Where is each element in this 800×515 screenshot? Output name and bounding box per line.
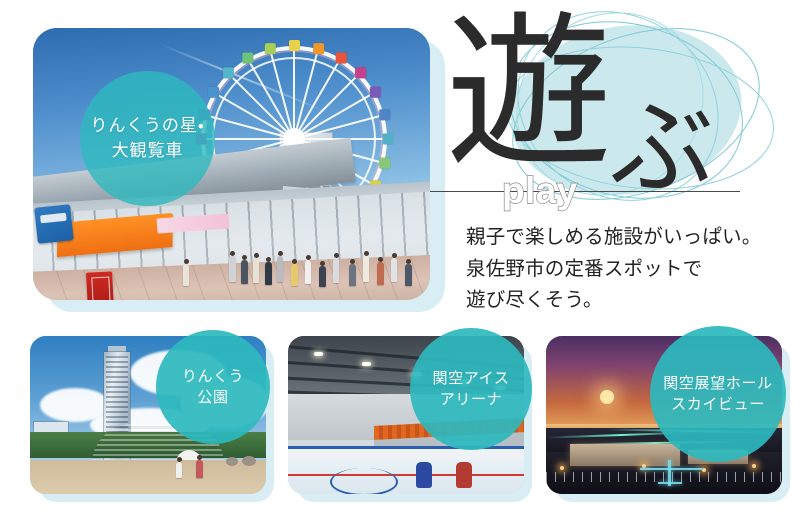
- hero-badge-line-2: 大観覧車: [112, 139, 184, 164]
- hero-a-board-sign: [86, 271, 114, 300]
- airport-lamp: [560, 466, 564, 470]
- hero-pedestrian: [363, 256, 369, 282]
- title-divider-rule: [430, 191, 740, 192]
- park-rock: [242, 456, 256, 466]
- arena-mascot-blue: [416, 462, 432, 488]
- thumbnail-kanku-sky-view[interactable]: 関空展望ホール スカイビュー: [546, 336, 790, 502]
- hero-pedestrian: [391, 258, 397, 282]
- airport-lamp: [752, 464, 756, 468]
- hero-pedestrian: [253, 258, 259, 283]
- poster-canvas: りんくうの星・ 大観覧車 遊 ぶ play 親子で楽しめる施設がいっぱい。 泉佐…: [0, 0, 800, 515]
- thumbnail-rinku-park[interactable]: りんくう 公園: [30, 336, 274, 502]
- thumbnail-badge-3-line-2: スカイビュー: [671, 394, 765, 415]
- park-rock: [226, 457, 238, 466]
- thumbnail-badge-1-line-2: 公園: [197, 387, 228, 408]
- arena-face-off-circle: [330, 468, 398, 494]
- hero-badge-line-1: りんくうの星・: [90, 114, 204, 139]
- title-romaji: play: [502, 170, 578, 212]
- hero-pedestrian: [183, 264, 189, 286]
- thumbnail-row: りんくう 公園: [0, 336, 800, 511]
- hero-shop-sign: [34, 204, 74, 244]
- hero-pedestrian: [229, 256, 236, 282]
- hero-pedestrian: [319, 266, 326, 287]
- lede-paragraph: 親子で楽しめる施設がいっぱい。 泉佐野市の定番スポットで 遊び尽くそう。: [466, 222, 796, 317]
- airport-setting-sun: [600, 390, 614, 404]
- hero-pedestrian: [305, 260, 311, 284]
- hero-photo-rinku-ferris-wheel[interactable]: りんくうの星・ 大観覧車: [33, 28, 430, 300]
- lede-line-2: 泉佐野市の定番スポットで: [466, 254, 796, 286]
- hero-pedestrian: [265, 262, 272, 285]
- plane-wing: [640, 468, 702, 470]
- arena-center-line: [288, 474, 524, 476]
- hero-pedestrian: [405, 264, 412, 286]
- lede-line-3: 遊び尽くそう。: [466, 285, 796, 317]
- hero-pedestrian: [291, 264, 298, 286]
- thumbnail-kanku-ice-arena[interactable]: 関空アイス アリーナ: [288, 336, 532, 502]
- lede-line-1: 親子で楽しめる施設がいっぱい。: [466, 222, 796, 254]
- title-block: 遊 ぶ play 親子で楽しめる施設がいっぱい。 泉佐野市の定番スポットで 遊び…: [430, 10, 800, 310]
- thumbnail-badge-3-line-1: 関空展望ホール: [663, 373, 772, 394]
- ferris-wheel-spoke: [293, 46, 295, 139]
- arena-ice-surface: [288, 458, 524, 494]
- plane-tail: [658, 482, 682, 484]
- thumbnail-badge-2-line-2: アリーナ: [440, 389, 503, 410]
- thumbnail-badge-2-line-1: 関空アイス: [432, 368, 509, 389]
- park-visitor: [176, 462, 182, 478]
- hero-pedestrian: [333, 258, 339, 283]
- hero-pedestrian: [377, 262, 384, 285]
- hero-pedestrian: [349, 264, 356, 286]
- park-visitor: [196, 460, 203, 478]
- hero-badge: りんくうの星・ 大観覧車: [80, 71, 215, 206]
- thumbnail-badge-1-line-1: りんくう: [182, 366, 244, 387]
- title-kana: ぶ: [610, 96, 714, 200]
- arena-mascot-red: [456, 462, 472, 488]
- title-kanji: 遊: [446, 12, 609, 178]
- thumbnail-badge-1: りんくう 公園: [156, 330, 270, 444]
- hero-pedestrian: [241, 260, 248, 284]
- arena-light: [362, 362, 371, 366]
- hero-pedestrian: [277, 256, 283, 282]
- thumbnail-badge-3: 関空展望ホール スカイビュー: [650, 326, 786, 462]
- thumbnail-badge-2: 関空アイス アリーナ: [410, 328, 532, 450]
- airport-plane-outline: [638, 458, 706, 488]
- arena-light: [314, 352, 323, 356]
